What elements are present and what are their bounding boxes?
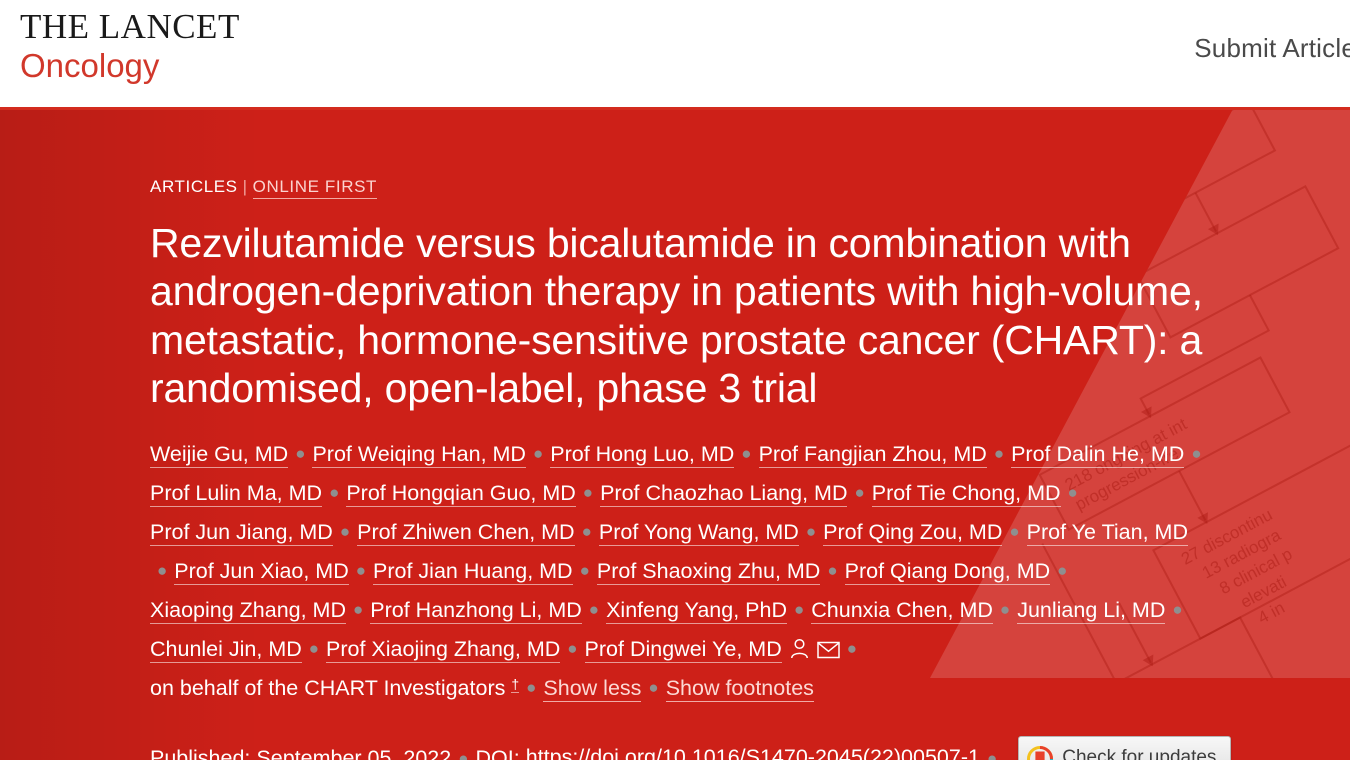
site-logo[interactable]: THE LANCET Oncology bbox=[20, 8, 240, 84]
bullet-separator: ● bbox=[458, 745, 468, 760]
logo-oncology-text: Oncology bbox=[20, 48, 240, 84]
author-link[interactable]: Prof Ye Tian, MD bbox=[1027, 520, 1188, 546]
author-link[interactable]: Prof Jian Huang, MD bbox=[373, 559, 573, 585]
bullet-separator: ● bbox=[1057, 556, 1067, 587]
page-title: Rezvilutamide versus bicalutamide in com… bbox=[150, 219, 1250, 413]
crossmark-logo-icon bbox=[1027, 746, 1053, 760]
author-link[interactable]: Prof Qing Zou, MD bbox=[823, 520, 1002, 546]
author-link[interactable]: Prof Zhiwen Chen, MD bbox=[357, 520, 574, 546]
bullet-separator: ● bbox=[827, 556, 837, 587]
person-icon[interactable] bbox=[790, 638, 809, 659]
bullet-separator: ● bbox=[329, 478, 339, 509]
author-link[interactable]: Junliang Li, MD bbox=[1017, 598, 1165, 624]
author-link[interactable]: Prof Qiang Dong, MD bbox=[845, 559, 1051, 585]
author-link[interactable]: Prof Yong Wang, MD bbox=[599, 520, 799, 546]
author-link[interactable]: Prof Jun Xiao, MD bbox=[174, 559, 348, 585]
published-date: September 05, 2022 bbox=[256, 741, 451, 760]
bullet-separator: ● bbox=[583, 478, 593, 509]
kicker-section[interactable]: ARTICLES bbox=[150, 177, 238, 196]
author-link[interactable]: Chunxia Chen, MD bbox=[811, 598, 993, 624]
author-link[interactable]: Weijie Gu, MD bbox=[150, 442, 288, 468]
bullet-separator: ● bbox=[567, 634, 577, 665]
bullet-separator: ● bbox=[1172, 595, 1182, 626]
bullet-separator: ● bbox=[854, 478, 864, 509]
publication-line: Published: September 05, 2022 ● DOI: htt… bbox=[150, 736, 1250, 760]
author-link[interactable]: Prof Lulin Ma, MD bbox=[150, 481, 322, 507]
bullet-separator: ● bbox=[1009, 517, 1019, 548]
author-link[interactable]: Prof Fangjian Zhou, MD bbox=[759, 442, 987, 468]
crossmark-label: Check for updates bbox=[1062, 743, 1216, 760]
bullet-separator: ● bbox=[1000, 595, 1010, 626]
author-list: Weijie Gu, MD●Prof Weiqing Han, MD●Prof … bbox=[150, 435, 1210, 709]
crossmark-check-for-updates-button[interactable]: Check for updates bbox=[1018, 736, 1231, 760]
author-link[interactable]: Xinfeng Yang, PhD bbox=[606, 598, 787, 624]
author-link[interactable]: Prof Weiqing Han, MD bbox=[312, 442, 526, 468]
bullet-separator: ● bbox=[340, 517, 350, 548]
bullet-separator: ● bbox=[1191, 439, 1201, 470]
bullet-separator: ● bbox=[582, 517, 592, 548]
bullet-separator: ● bbox=[157, 556, 167, 587]
bullet-separator: ● bbox=[589, 595, 599, 626]
bullet-separator: ● bbox=[533, 439, 543, 470]
group-attribution: on behalf of the CHART Investigators bbox=[150, 676, 511, 700]
bullet-separator: ● bbox=[806, 517, 816, 548]
author-link[interactable]: Prof Hongqian Guo, MD bbox=[346, 481, 575, 507]
bullet-separator: ● bbox=[741, 439, 751, 470]
doi-link[interactable]: https://doi.org/10.1016/S1470-2045(22)00… bbox=[526, 740, 980, 760]
author-link[interactable]: Prof Hong Luo, MD bbox=[550, 442, 734, 468]
author-link[interactable]: Prof Dalin He, MD bbox=[1011, 442, 1184, 468]
article-hero-banner: 218 ongoing at int progression-fre 27 di… bbox=[0, 110, 1350, 760]
kicker-separator: | bbox=[243, 177, 248, 196]
author-link[interactable]: Prof Shaoxing Zhu, MD bbox=[597, 559, 820, 585]
show-footnotes-link[interactable]: Show footnotes bbox=[666, 676, 814, 702]
bullet-separator: ● bbox=[1068, 478, 1078, 509]
svg-text:4 in: 4 in bbox=[1255, 598, 1288, 628]
author-link[interactable]: Prof Chaozhao Liang, MD bbox=[600, 481, 847, 507]
article-header: ARTICLES|ONLINE FIRST Rezvilutamide vers… bbox=[150, 110, 1250, 760]
bullet-separator: ● bbox=[580, 556, 590, 587]
bullet-separator: ● bbox=[648, 673, 658, 704]
envelope-icon[interactable] bbox=[817, 641, 840, 659]
bullet-separator: ● bbox=[994, 439, 1004, 470]
kicker-status[interactable]: ONLINE FIRST bbox=[253, 177, 377, 199]
corresponding-author-link[interactable]: Prof Dingwei Ye, MD bbox=[585, 637, 782, 663]
bullet-separator: ● bbox=[794, 595, 804, 626]
bullet-separator: ● bbox=[295, 439, 305, 470]
bullet-separator: ● bbox=[526, 673, 536, 704]
show-less-link[interactable]: Show less bbox=[543, 676, 641, 702]
bullet-separator: ● bbox=[309, 634, 319, 665]
submit-article-link[interactable]: Submit Article bbox=[1194, 33, 1350, 64]
published-label: Published: bbox=[150, 741, 250, 760]
footnote-marker[interactable]: † bbox=[511, 676, 519, 693]
bullet-separator: ● bbox=[847, 634, 857, 665]
author-link[interactable]: Prof Hanzhong Li, MD bbox=[370, 598, 582, 624]
author-link[interactable]: Prof Tie Chong, MD bbox=[872, 481, 1061, 507]
bullet-separator: ● bbox=[353, 595, 363, 626]
article-kicker: ARTICLES|ONLINE FIRST bbox=[150, 178, 1250, 195]
author-link[interactable]: Prof Xiaojing Zhang, MD bbox=[326, 637, 560, 663]
bullet-separator: ● bbox=[356, 556, 366, 587]
bullet-separator: ● bbox=[987, 745, 997, 760]
author-link[interactable]: Xiaoping Zhang, MD bbox=[150, 598, 346, 624]
doi-label: DOI: bbox=[476, 741, 520, 760]
author-link[interactable]: Prof Jun Jiang, MD bbox=[150, 520, 333, 546]
author-link[interactable]: Chunlei Jin, MD bbox=[150, 637, 302, 663]
site-header: THE LANCET Oncology Submit Article bbox=[0, 0, 1350, 110]
logo-lancet-text: THE LANCET bbox=[20, 8, 240, 46]
